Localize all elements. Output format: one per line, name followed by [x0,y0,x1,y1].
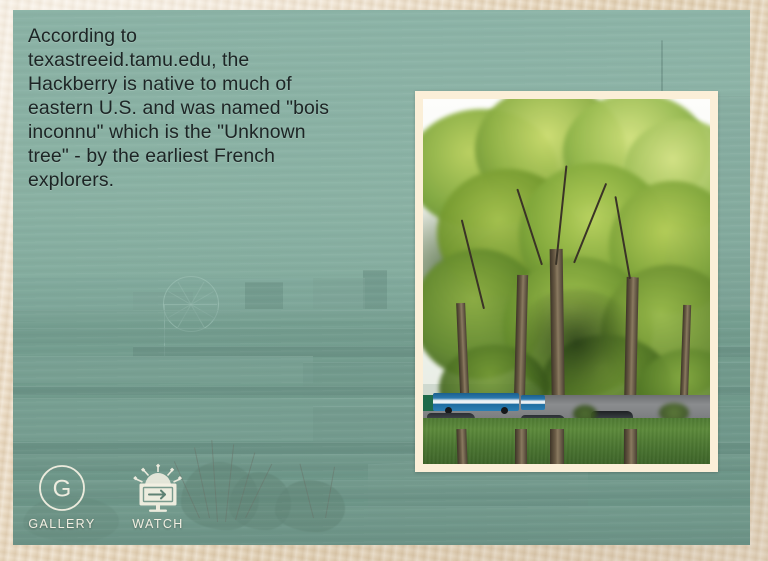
slide-viewer-root: According to texastreeid.tamu.edu, the H… [0,0,768,561]
svg-text:G: G [53,476,72,503]
slide-caption-text: According to texastreeid.tamu.edu, the H… [28,24,358,192]
tree-photo-image [423,99,710,464]
watch-button-label: WATCH [132,517,183,531]
watch-button[interactable]: WATCH [121,462,195,531]
gallery-g-circle-icon: G [36,462,88,514]
gallery-button-label: GALLERY [28,517,95,531]
watch-monitor-icon [132,462,184,514]
slide-panel: According to texastreeid.tamu.edu, the H… [13,10,750,545]
photo-bus-second [521,395,545,410]
gallery-button[interactable]: G GALLERY [25,462,99,531]
bottom-toolbar: G GALLERY [25,462,195,531]
tree-photo-card[interactable] [415,91,718,472]
